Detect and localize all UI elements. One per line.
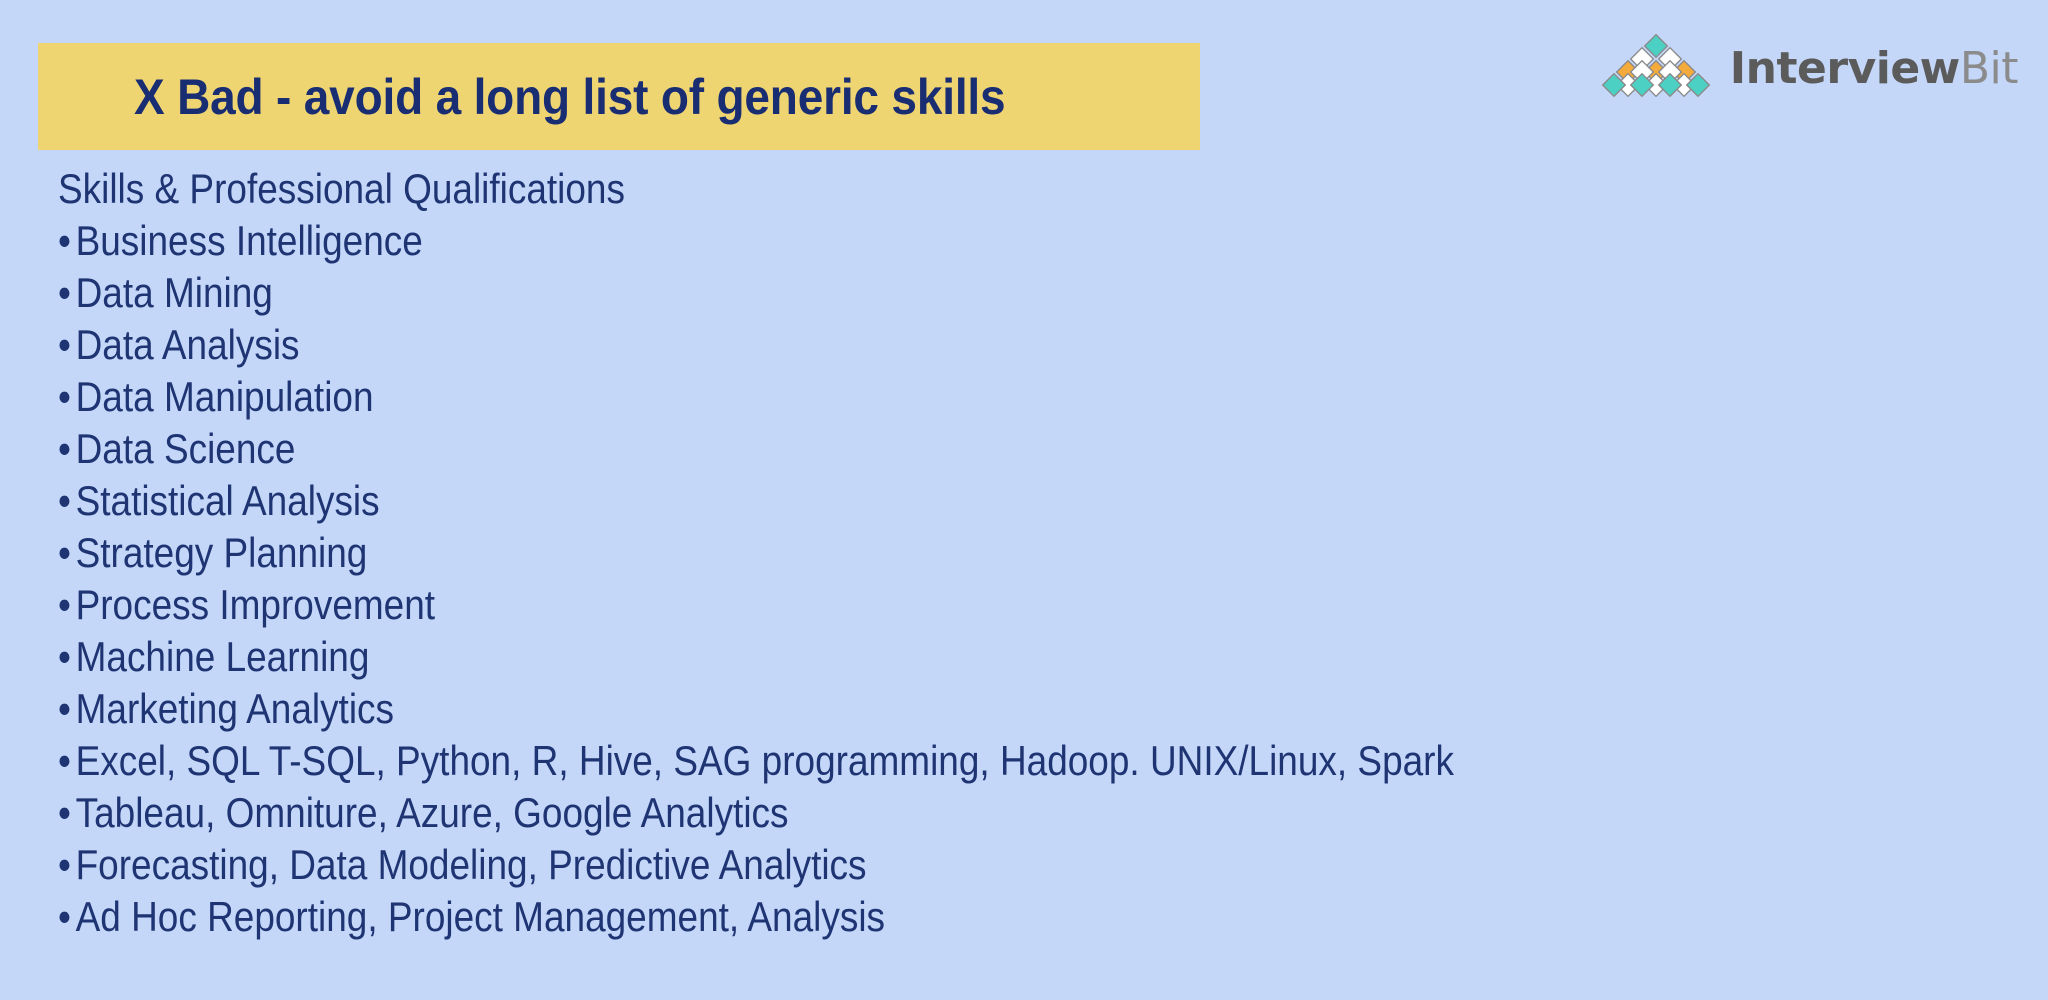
list-item-label: Excel, SQL T-SQL, Python, R, Hive, SAG p… <box>76 735 1454 787</box>
list-item: •Process Improvement <box>58 579 1730 631</box>
list-item: •Business Intelligence <box>58 215 1730 267</box>
list-item-label: Statistical Analysis <box>76 475 380 527</box>
skills-list: •Business Intelligence•Data Mining•Data … <box>58 215 1958 943</box>
list-item: •Excel, SQL T-SQL, Python, R, Hive, SAG … <box>58 735 1730 787</box>
brand-logo: InterviewBit <box>1596 34 2018 103</box>
list-item: •Forecasting, Data Modeling, Predictive … <box>58 839 1730 891</box>
list-item-label: Ad Hoc Reporting, Project Management, An… <box>76 891 885 943</box>
bullet-icon: • <box>58 215 76 267</box>
list-item-label: Business Intelligence <box>76 215 423 267</box>
list-item: •Ad Hoc Reporting, Project Management, A… <box>58 891 1730 943</box>
bullet-icon: • <box>58 683 76 735</box>
skills-section-heading: Skills & Professional Qualifications <box>58 163 1730 215</box>
title-banner: X Bad - avoid a long list of generic ski… <box>38 43 1200 150</box>
bullet-icon: • <box>58 735 76 787</box>
bullet-icon: • <box>58 579 76 631</box>
brand-wordmark-secondary: Bit <box>1960 43 2018 94</box>
list-item: •Statistical Analysis <box>58 475 1730 527</box>
bullet-icon: • <box>58 527 76 579</box>
bullet-icon: • <box>58 423 76 475</box>
skills-section: Skills & Professional Qualifications •Bu… <box>58 163 1958 943</box>
bullet-icon: • <box>58 891 76 943</box>
bullet-icon: • <box>58 631 76 683</box>
list-item: •Marketing Analytics <box>58 683 1730 735</box>
list-item: •Strategy Planning <box>58 527 1730 579</box>
slide-canvas: X Bad - avoid a long list of generic ski… <box>0 0 2048 1000</box>
page-title: X Bad - avoid a long list of generic ski… <box>134 72 1005 122</box>
list-item: •Data Mining <box>58 267 1730 319</box>
bullet-icon: • <box>58 787 76 839</box>
bullet-icon: • <box>58 319 76 371</box>
bullet-icon: • <box>58 267 76 319</box>
list-item-label: Tableau, Omniture, Azure, Google Analyti… <box>76 787 789 839</box>
list-item-label: Data Manipulation <box>76 371 374 423</box>
list-item: •Data Science <box>58 423 1730 475</box>
list-item: •Tableau, Omniture, Azure, Google Analyt… <box>58 787 1730 839</box>
list-item-label: Data Science <box>76 423 296 475</box>
bullet-icon: • <box>58 371 76 423</box>
list-item-label: Data Mining <box>76 267 273 319</box>
brand-wordmark-primary: Interview <box>1730 43 1960 94</box>
list-item: •Machine Learning <box>58 631 1730 683</box>
list-item-label: Machine Learning <box>76 631 370 683</box>
list-item-label: Process Improvement <box>76 579 435 631</box>
list-item: •Data Manipulation <box>58 371 1730 423</box>
interviewbit-diamond-logo-icon <box>1596 34 1716 103</box>
bullet-icon: • <box>58 475 76 527</box>
list-item-label: Data Analysis <box>76 319 300 371</box>
brand-wordmark: InterviewBit <box>1730 47 2018 91</box>
list-item-label: Strategy Planning <box>76 527 368 579</box>
bullet-icon: • <box>58 839 76 891</box>
list-item-label: Forecasting, Data Modeling, Predictive A… <box>76 839 867 891</box>
list-item: •Data Analysis <box>58 319 1730 371</box>
list-item-label: Marketing Analytics <box>76 683 394 735</box>
